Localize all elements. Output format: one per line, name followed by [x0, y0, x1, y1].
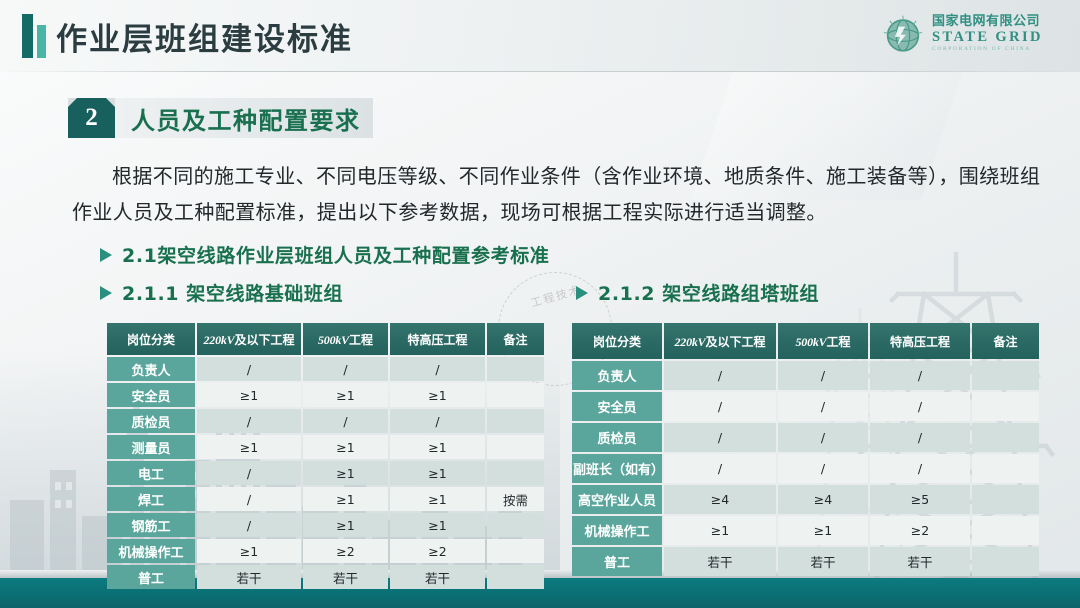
table-row: 安全员///	[572, 392, 1039, 421]
cell-uhv: 若干	[390, 565, 485, 589]
bullet-label-2-1: 2.1架空线路作业层班组人员及工种配置参考标准	[122, 241, 549, 268]
row-header-position: 负责人	[572, 361, 662, 390]
table-row: 机械操作工≥1≥1≥2	[572, 516, 1039, 545]
table-row: 普工若干若干若干	[107, 565, 544, 589]
cell-220kv: ≥1	[197, 435, 301, 459]
cell-220kv: ≥1	[664, 516, 776, 545]
cell-uhv: ≥1	[390, 383, 485, 407]
cell-220kv: ≥4	[664, 485, 776, 514]
cell-remark: 按需	[487, 487, 544, 511]
table-row: 普工若干若干若干	[572, 547, 1039, 576]
logo-text-block: 国家电网有限公司 STATE GRID CORPORATION OF CHINA	[932, 15, 1043, 52]
table-row: 测量员≥1≥1≥1	[107, 435, 544, 459]
table-header: 岗位分类 220kV及以下工程 500kV工程 特高压工程 备注	[572, 323, 1039, 359]
cell-uhv: /	[870, 423, 970, 452]
row-header-position: 机械操作工	[572, 516, 662, 545]
col-header-uhv: 特高压工程	[870, 323, 970, 359]
cell-500kv: ≥1	[303, 461, 388, 485]
table-row: 负责人///	[572, 361, 1039, 390]
cell-500kv: ≥1	[303, 435, 388, 459]
table-row: 电工/≥1≥1	[107, 461, 544, 485]
body-paragraph: 根据不同的施工专业、不同电压等级、不同作业条件（含作业环境、地质条件、施工装备等…	[72, 158, 1060, 230]
table-header: 岗位分类 220kV及以下工程 500kV工程 特高压工程 备注	[107, 323, 544, 355]
col-header-position: 岗位分类	[572, 323, 662, 359]
cell-uhv: ≥2	[870, 516, 970, 545]
cell-remark	[487, 539, 544, 563]
cell-uhv: /	[870, 361, 970, 390]
cell-remark	[972, 392, 1039, 421]
col-header-220kv: 220kV及以下工程	[197, 323, 301, 355]
cell-220kv: /	[197, 487, 301, 511]
row-header-position: 质检员	[107, 409, 195, 433]
header-accent-bar-dark	[22, 14, 33, 58]
col-header-500kv: 500kV工程	[778, 323, 868, 359]
cell-220kv: 若干	[664, 547, 776, 576]
cell-220kv: /	[197, 409, 301, 433]
section-number-badge: 2	[68, 98, 115, 138]
cell-remark	[487, 461, 544, 485]
cell-remark	[972, 423, 1039, 452]
table: 岗位分类 220kV及以下工程 500kV工程 特高压工程 备注 负责人///安…	[105, 321, 546, 591]
cell-220kv: /	[197, 357, 301, 381]
cell-220kv: /	[197, 461, 301, 485]
table: 岗位分类 220kV及以下工程 500kV工程 特高压工程 备注 负责人///安…	[570, 321, 1041, 578]
row-header-position: 测量员	[107, 435, 195, 459]
state-grid-emblem-icon	[881, 12, 925, 56]
table-row: 质检员///	[572, 423, 1039, 452]
row-header-position: 钢筋工	[107, 513, 195, 537]
row-header-position: 副班长（如有）	[572, 454, 662, 483]
cell-remark	[972, 454, 1039, 483]
table-header-row: 岗位分类 220kV及以下工程 500kV工程 特高压工程 备注	[107, 323, 544, 355]
cell-500kv: ≥1	[303, 383, 388, 407]
col-header-remark: 备注	[972, 323, 1039, 359]
table-header-row: 岗位分类 220kV及以下工程 500kV工程 特高压工程 备注	[572, 323, 1039, 359]
cell-uhv: ≥1	[390, 435, 485, 459]
row-header-position: 普工	[107, 565, 195, 589]
cell-uhv: /	[390, 357, 485, 381]
table-row: 焊工/≥1≥1按需	[107, 487, 544, 511]
table-body: 负责人///安全员///质检员///副班长（如有）///高空作业人员≥4≥4≥5…	[572, 361, 1039, 576]
cell-uhv: /	[870, 454, 970, 483]
section-title: 人员及工种配置要求	[131, 101, 361, 136]
table-row: 钢筋工/≥1≥1	[107, 513, 544, 537]
cell-remark	[487, 565, 544, 589]
cell-500kv: /	[778, 361, 868, 390]
cell-500kv: ≥1	[303, 487, 388, 511]
row-header-position: 普工	[572, 547, 662, 576]
bullet-heading-2-1-2: 2.1.2 架空线路组塔班组	[576, 279, 819, 306]
row-header-position: 安全员	[107, 383, 195, 407]
table-row: 副班长（如有）///	[572, 454, 1039, 483]
cell-remark	[487, 357, 544, 381]
cell-remark	[487, 383, 544, 407]
table-row: 负责人///	[107, 357, 544, 381]
cell-500kv: ≥2	[303, 539, 388, 563]
arrow-bullet-icon	[100, 286, 112, 300]
row-header-position: 高空作业人员	[572, 485, 662, 514]
arrow-bullet-icon	[100, 248, 112, 262]
bullet-heading-2-1: 2.1架空线路作业层班组人员及工种配置参考标准	[100, 241, 549, 268]
logo-company-sub: CORPORATION OF CHINA	[932, 47, 1043, 53]
cell-500kv: 若干	[778, 547, 868, 576]
cell-500kv: 若干	[303, 565, 388, 589]
cell-220kv: /	[664, 392, 776, 421]
section-title-bar: 人员及工种配置要求	[115, 98, 373, 138]
row-header-position: 负责人	[107, 357, 195, 381]
cell-500kv: /	[778, 423, 868, 452]
cell-220kv: /	[664, 423, 776, 452]
bullet-label-2-1-2: 2.1.2 架空线路组塔班组	[598, 279, 819, 306]
section-heading: 2 人员及工种配置要求	[68, 98, 373, 138]
cell-remark	[487, 435, 544, 459]
header-divider	[0, 71, 1080, 72]
cell-500kv: /	[778, 392, 868, 421]
cell-uhv: ≥5	[870, 485, 970, 514]
cell-uhv: /	[390, 409, 485, 433]
page-title: 作业层班组建设标准	[56, 14, 353, 59]
col-header-uhv: 特高压工程	[390, 323, 485, 355]
cell-500kv: /	[303, 409, 388, 433]
cell-220kv: /	[664, 361, 776, 390]
cell-uhv: ≥1	[390, 513, 485, 537]
cell-220kv: ≥1	[197, 539, 301, 563]
row-header-position: 电工	[107, 461, 195, 485]
cell-uhv: ≥1	[390, 487, 485, 511]
bullet-label-2-1-1: 2.1.1 架空线路基础班组	[122, 279, 343, 306]
table-row: 高空作业人员≥4≥4≥5	[572, 485, 1039, 514]
row-header-position: 机械操作工	[107, 539, 195, 563]
cell-500kv: /	[303, 357, 388, 381]
table-tower-assembly-crew: 岗位分类 220kV及以下工程 500kV工程 特高压工程 备注 负责人///安…	[570, 321, 1029, 578]
logo-company-en: STATE GRID	[932, 30, 1043, 45]
header-accent-bar-light	[37, 25, 46, 58]
logo-company-cn: 国家电网有限公司	[932, 15, 1043, 28]
cell-500kv: ≥1	[303, 513, 388, 537]
section-number: 2	[85, 104, 98, 132]
col-header-500kv: 500kV工程	[303, 323, 388, 355]
cell-220kv: ≥1	[197, 383, 301, 407]
cell-remark	[972, 547, 1039, 576]
cell-remark	[972, 516, 1039, 545]
cell-uhv: ≥1	[390, 461, 485, 485]
cell-220kv: /	[197, 513, 301, 537]
cell-remark	[972, 361, 1039, 390]
cell-uhv: /	[870, 392, 970, 421]
col-header-position: 岗位分类	[107, 323, 195, 355]
table-row: 质检员///	[107, 409, 544, 433]
col-header-220kv: 220kV及以下工程	[664, 323, 776, 359]
cell-500kv: ≥1	[778, 516, 868, 545]
cell-remark	[487, 513, 544, 537]
cell-uhv: 若干	[870, 547, 970, 576]
table-body: 负责人///安全员≥1≥1≥1质检员///测量员≥1≥1≥1电工/≥1≥1焊工/…	[107, 357, 544, 589]
cell-remark	[972, 485, 1039, 514]
cell-220kv: 若干	[197, 565, 301, 589]
table-row: 安全员≥1≥1≥1	[107, 383, 544, 407]
table-foundation-crew: 岗位分类 220kV及以下工程 500kV工程 特高压工程 备注 负责人///安…	[105, 321, 534, 591]
slide: 工程技术 作业层班组建设标准 国家电网有限公司 STATE GRID	[0, 0, 1080, 608]
cell-500kv: /	[778, 454, 868, 483]
cell-remark	[487, 409, 544, 433]
arrow-bullet-icon	[576, 286, 588, 300]
cell-500kv: ≥4	[778, 485, 868, 514]
row-header-position: 焊工	[107, 487, 195, 511]
bullet-heading-2-1-1: 2.1.1 架空线路基础班组	[100, 279, 343, 306]
table-row: 机械操作工≥1≥2≥2	[107, 539, 544, 563]
state-grid-logo: 国家电网有限公司 STATE GRID CORPORATION OF CHINA	[881, 8, 1066, 60]
cell-220kv: /	[664, 454, 776, 483]
row-header-position: 安全员	[572, 392, 662, 421]
slide-header: 作业层班组建设标准 国家电网有限公司 STATE GRID CORPORATIO…	[0, 0, 1080, 72]
col-header-remark: 备注	[487, 323, 544, 355]
row-header-position: 质检员	[572, 423, 662, 452]
cell-uhv: ≥2	[390, 539, 485, 563]
